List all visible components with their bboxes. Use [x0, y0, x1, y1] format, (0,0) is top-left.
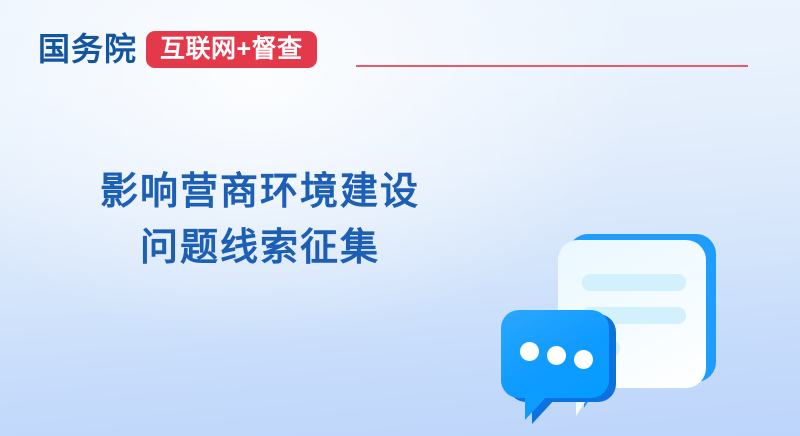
- internet-plus-supervision-badge: 互联网+督查: [146, 31, 317, 68]
- header-divider: [356, 65, 748, 67]
- page-title: 影响营商环境建设 问题线索征集: [0, 164, 520, 276]
- message-line-icon: [582, 274, 686, 291]
- typing-dot-icon: [574, 350, 593, 369]
- gov-name-label: 国务院: [38, 33, 137, 65]
- page-title-line-2: 问题线索征集: [0, 220, 520, 276]
- chat-bubbles-illustration: [490, 222, 780, 436]
- typing-dot-icon: [547, 346, 566, 365]
- message-bubble-front-tail: [525, 394, 549, 420]
- banner-root: 国务院 互联网+督查 影响营商环境建设 问题线索征集: [0, 0, 800, 436]
- typing-dot-icon: [520, 342, 539, 361]
- page-title-line-1: 影响营商环境建设: [0, 164, 520, 220]
- header: 国务院 互联网+督查: [38, 26, 317, 72]
- badge-label: 互联网+督查: [160, 37, 303, 62]
